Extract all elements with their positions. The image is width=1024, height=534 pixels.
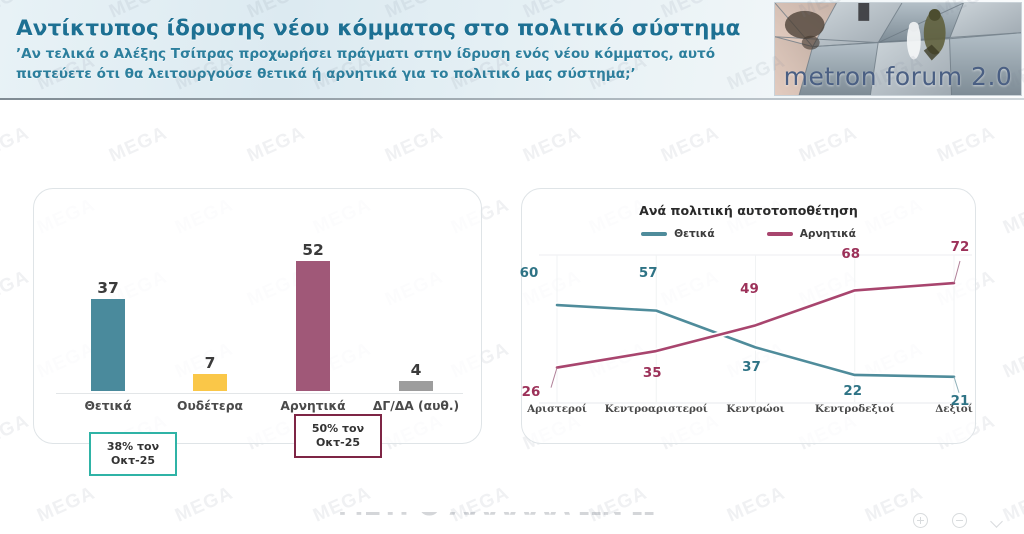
leader-positive-last bbox=[954, 377, 959, 393]
callout-negative-oct25: 50% τον Οκτ-25 bbox=[294, 414, 382, 458]
watermark-text: MEGA bbox=[0, 411, 33, 456]
leader-negative-last bbox=[954, 261, 960, 283]
watermark-text: MEGA bbox=[1000, 339, 1024, 384]
line-value-negative-4: 72 bbox=[938, 240, 982, 255]
bar-positive bbox=[91, 299, 125, 392]
line-value-positive-1: 57 bbox=[626, 266, 670, 281]
zoom-in-icon[interactable] bbox=[913, 513, 928, 528]
bar-value-positive: 37 bbox=[78, 279, 138, 297]
watermark-text: MEGA bbox=[520, 123, 585, 168]
line-value-positive-3: 22 bbox=[831, 384, 875, 399]
watermark-text: MEGA bbox=[934, 123, 999, 168]
watermark-text: MEGA bbox=[0, 267, 33, 312]
bar-negative bbox=[296, 261, 330, 391]
bar-value-negative: 52 bbox=[283, 241, 343, 259]
viewer-zoom-controls[interactable] bbox=[913, 513, 1006, 528]
watermark-text: MEGA bbox=[1000, 195, 1024, 240]
watermark-text: MEGA bbox=[34, 483, 99, 528]
chevron-down-icon[interactable] bbox=[991, 516, 1006, 525]
page-title: Αντίκτυπος ίδρυσης νέου κόμματος στο πολ… bbox=[16, 16, 756, 41]
metron-forum-logo: metron forum 2.0 bbox=[774, 2, 1022, 96]
page-subtitle: ’Αν τελικά ο Αλέξης Τσίπρας προχωρήσει π… bbox=[16, 44, 758, 84]
bar-chart-plot: 38% τον Οκτ-25 50% τον Οκτ-25 37 7 52 4 … bbox=[34, 189, 481, 443]
cut-off-footer-text: ΜΕΤΡΟ ΛΛΛΛΛΛ ΩΝ Ω bbox=[226, 512, 766, 534]
line-value-negative-0: 26 bbox=[509, 385, 553, 400]
line-value-positive-4: 21 bbox=[938, 394, 982, 409]
bar-dontknow bbox=[399, 381, 433, 391]
bar-neutral bbox=[193, 374, 227, 392]
slide-header: Αντίκτυπος ίδρυσης νέου κόμματος στο πολ… bbox=[0, 0, 1024, 100]
watermark-text: MEGA bbox=[796, 123, 861, 168]
zoom-out-icon[interactable] bbox=[952, 513, 967, 528]
line-value-negative-1: 35 bbox=[630, 366, 674, 381]
bar-label-dontknow: ΔΓ/ΔΑ (αυθ.) bbox=[356, 399, 476, 413]
cut-off-footer-label: ΜΕΤΡΟ ΛΛΛΛΛΛ ΩΝ Ω bbox=[226, 512, 766, 522]
slide-canvas: Αντίκτυπος ίδρυσης νέου κόμματος στο πολ… bbox=[0, 0, 1024, 534]
bar-value-neutral: 7 bbox=[180, 354, 240, 372]
watermark-text: MEGA bbox=[382, 123, 447, 168]
bar-label-negative: Αρνητικά bbox=[253, 399, 373, 413]
bar-value-dontknow: 4 bbox=[386, 361, 446, 379]
line-value-negative-2: 49 bbox=[728, 282, 772, 297]
self-placement-line-chart-card: Ανά πολιτική αυτοτοποθέτηση Θετικά Αρνητ… bbox=[521, 188, 976, 444]
callout-negative-line2: Οκτ-25 bbox=[300, 436, 376, 450]
watermark-text: MEGA bbox=[106, 123, 171, 168]
bar-label-neutral: Ουδέτερα bbox=[150, 399, 270, 413]
line-value-positive-0: 60 bbox=[507, 266, 551, 281]
bar-chart-baseline bbox=[56, 393, 463, 394]
callout-positive-line2: Οκτ-25 bbox=[95, 454, 171, 468]
watermark-text: MEGA bbox=[0, 123, 33, 168]
logo-wordmark: metron forum 2.0 bbox=[775, 62, 1021, 91]
callout-positive-line1: 38% τον bbox=[95, 440, 171, 454]
line-value-positive-2: 37 bbox=[730, 360, 774, 375]
callout-negative-line1: 50% τον bbox=[300, 422, 376, 436]
watermark-text: MEGA bbox=[658, 123, 723, 168]
line-value-negative-3: 68 bbox=[829, 247, 873, 262]
watermark-text: MEGA bbox=[244, 123, 309, 168]
overall-bar-chart-card: 38% τον Οκτ-25 50% τον Οκτ-25 37 7 52 4 … bbox=[33, 188, 482, 444]
callout-positive-oct25: 38% τον Οκτ-25 bbox=[89, 432, 177, 476]
